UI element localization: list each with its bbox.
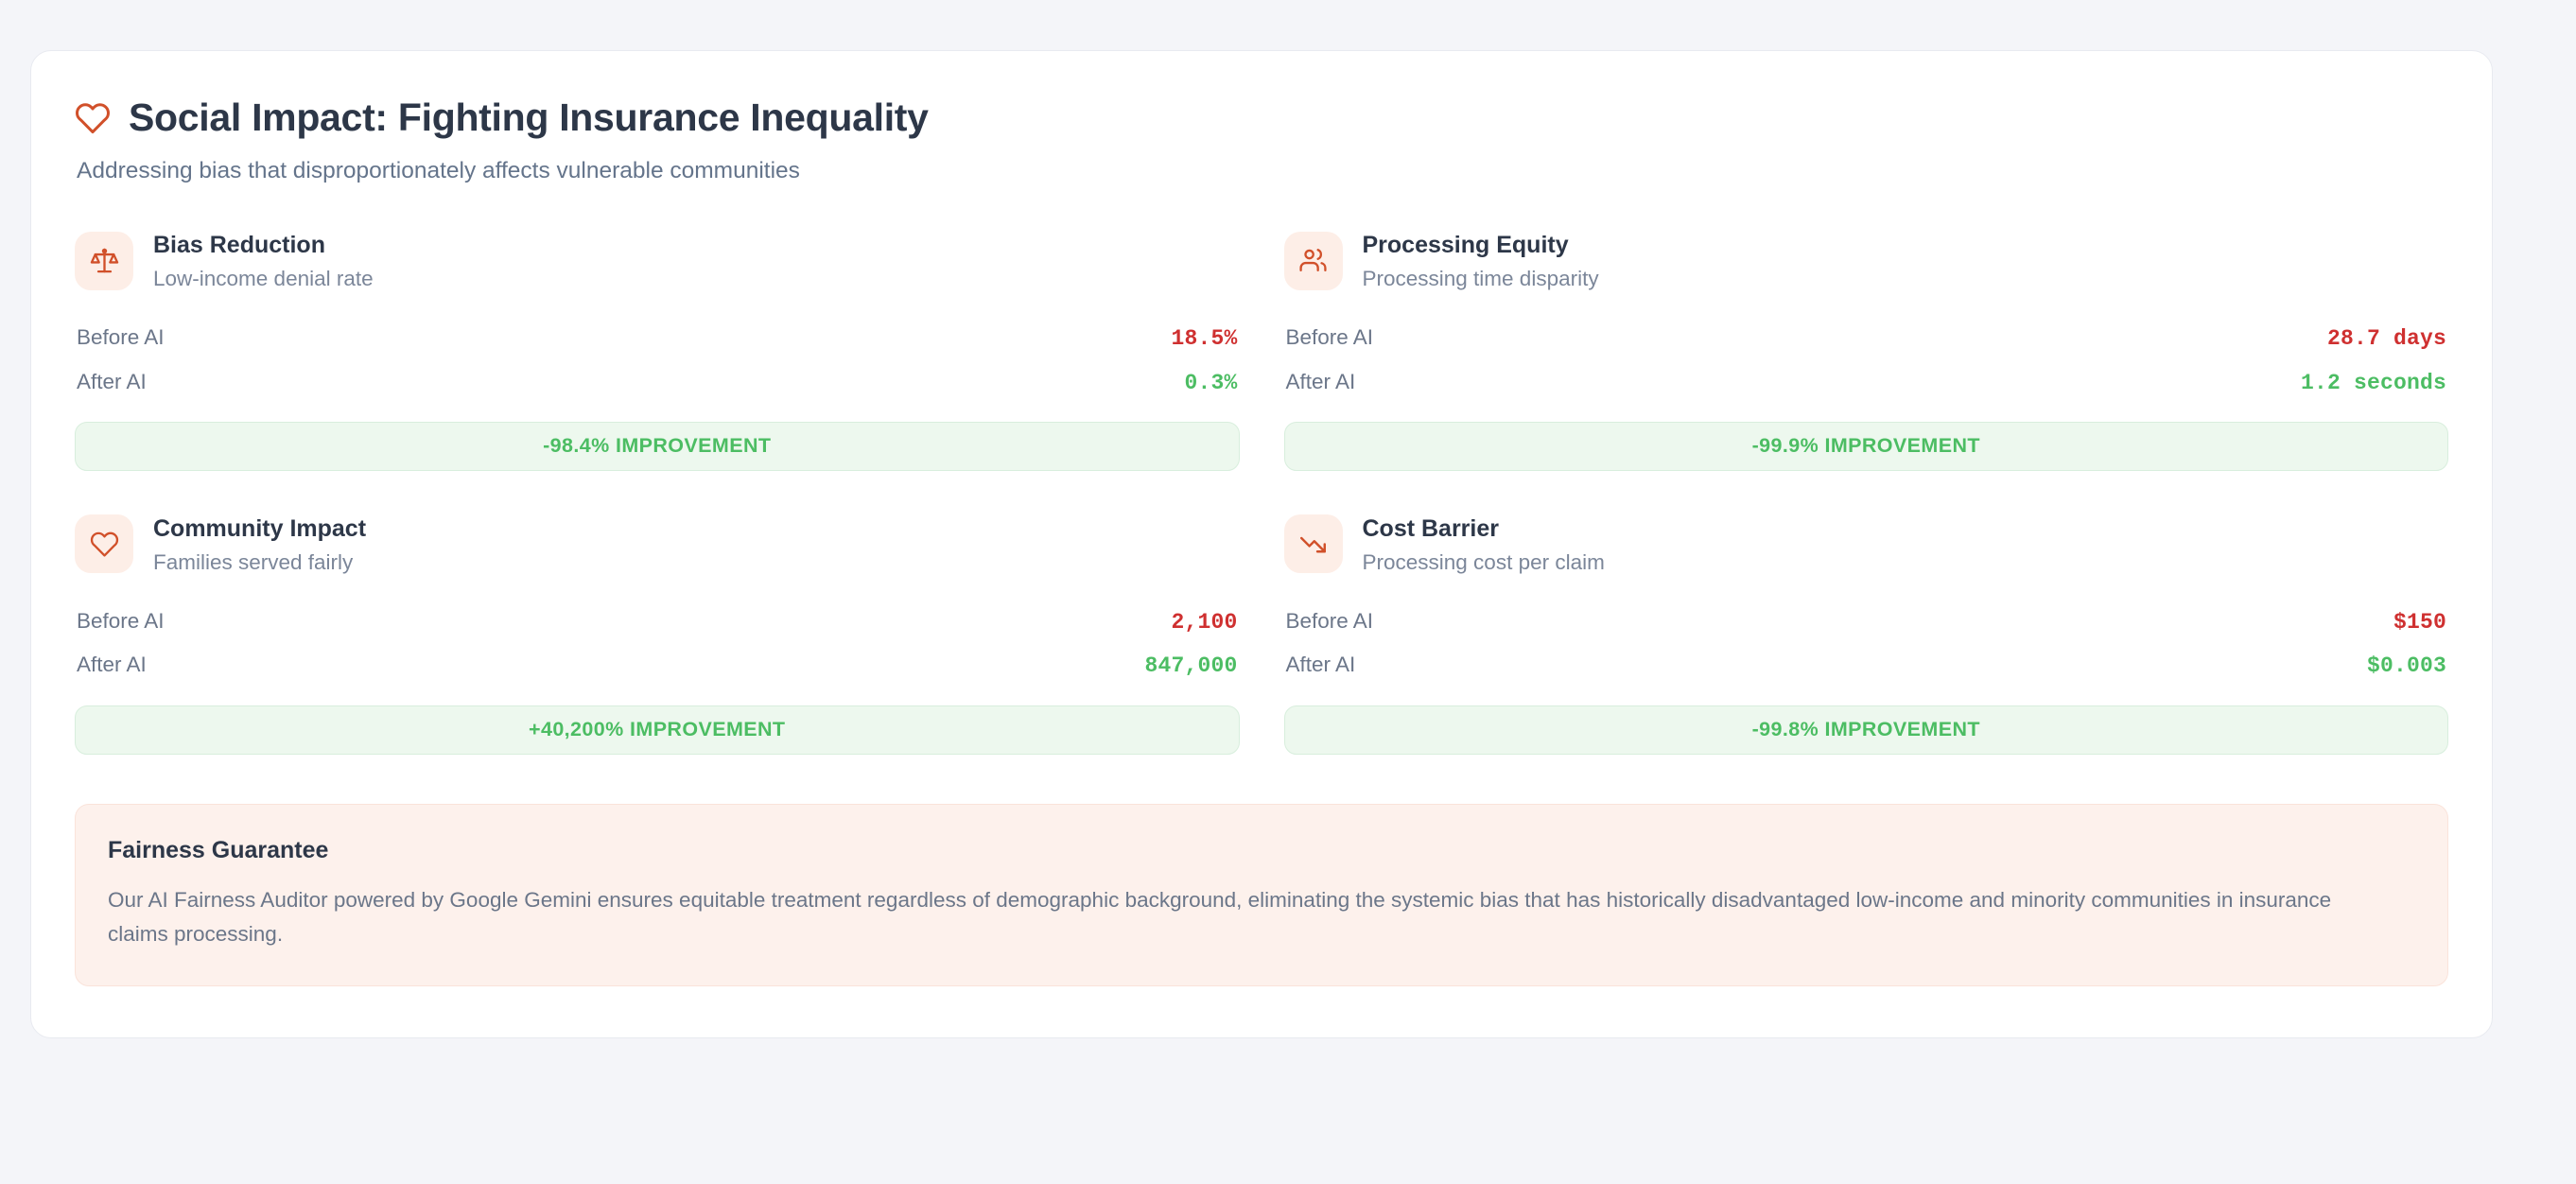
after-value: 847,000 (1144, 651, 1237, 682)
scales-balance-icon (90, 246, 119, 275)
page-background: Social Impact: Fighting Insurance Inequa… (0, 0, 2576, 1184)
metric-grid: Bias Reduction Low-income denial rate Be… (75, 230, 2448, 754)
icon-badge (1284, 232, 1343, 290)
improvement-badge: -99.8% IMPROVEMENT (1284, 705, 2449, 755)
metric-subtitle: Low-income denial rate (153, 266, 374, 291)
metric-header: Bias Reduction Low-income denial rate (75, 230, 1240, 291)
before-label: Before AI (1286, 322, 1374, 354)
improvement-badge: -99.9% IMPROVEMENT (1284, 422, 2449, 471)
metric-titles: Bias Reduction Low-income denial rate (153, 230, 374, 291)
before-value: 2,100 (1171, 607, 1237, 638)
before-label: Before AI (77, 322, 165, 354)
improvement-badge: +40,200% IMPROVEMENT (75, 705, 1240, 755)
metric-card-processing-equity: Processing Equity Processing time dispar… (1284, 230, 2449, 471)
after-label: After AI (1286, 650, 1356, 681)
metric-title: Bias Reduction (153, 231, 374, 259)
metric-subtitle: Families served fairly (153, 549, 366, 575)
metric-rows: Before AI 2,100 After AI 847,000 (75, 601, 1240, 688)
metric-rows: Before AI $150 After AI $0.003 (1284, 601, 2449, 688)
panel-subtitle: Addressing bias that disproportionately … (77, 155, 2448, 186)
after-value: $0.003 (2367, 651, 2446, 682)
before-value: $150 (2393, 607, 2446, 638)
users-icon (1298, 246, 1328, 275)
metric-title: Processing Equity (1363, 231, 1599, 259)
fairness-guarantee-panel: Fairness Guarantee Our AI Fairness Audit… (75, 804, 2448, 987)
metric-rows: Before AI 18.5% After AI 0.3% (75, 317, 1240, 405)
page-title: Social Impact: Fighting Insurance Inequa… (129, 96, 929, 139)
after-label: After AI (1286, 367, 1356, 398)
fairness-guarantee-title: Fairness Guarantee (108, 836, 2415, 864)
metric-titles: Cost Barrier Processing cost per claim (1363, 514, 1605, 575)
metric-header: Processing Equity Processing time dispar… (1284, 230, 2449, 291)
metric-header: Cost Barrier Processing cost per claim (1284, 514, 2449, 575)
metric-row-before: Before AI 18.5% (75, 317, 1240, 360)
metric-row-after: After AI 0.3% (75, 361, 1240, 405)
metric-header: Community Impact Families served fairly (75, 514, 1240, 575)
metric-title: Cost Barrier (1363, 514, 1605, 543)
metric-card-cost-barrier: Cost Barrier Processing cost per claim B… (1284, 514, 2449, 755)
after-value: 0.3% (1184, 368, 1237, 399)
heart-icon (75, 100, 111, 136)
metric-card-community-impact: Community Impact Families served fairly … (75, 514, 1240, 755)
before-label: Before AI (77, 606, 165, 637)
social-impact-panel: Social Impact: Fighting Insurance Inequa… (30, 50, 2493, 1038)
before-value: 18.5% (1171, 323, 1237, 355)
metric-row-before: Before AI $150 (1284, 601, 2449, 644)
metric-title: Community Impact (153, 514, 366, 543)
heart-icon (90, 530, 119, 559)
metric-titles: Processing Equity Processing time dispar… (1363, 230, 1599, 291)
icon-badge (75, 232, 133, 290)
metric-row-after: After AI 847,000 (75, 644, 1240, 688)
after-label: After AI (77, 650, 147, 681)
improvement-badge: -98.4% IMPROVEMENT (75, 422, 1240, 471)
icon-badge (1284, 514, 1343, 573)
metric-subtitle: Processing cost per claim (1363, 549, 1605, 575)
after-label: After AI (77, 367, 147, 398)
before-value: 28.7 days (2327, 323, 2446, 355)
fairness-guarantee-body: Our AI Fairness Auditor powered by Googl… (108, 883, 2396, 952)
metric-row-before: Before AI 28.7 days (1284, 317, 2449, 360)
after-value: 1.2 seconds (2301, 368, 2446, 399)
metric-titles: Community Impact Families served fairly (153, 514, 366, 575)
trending-down-icon (1298, 530, 1328, 559)
icon-badge (75, 514, 133, 573)
metric-row-before: Before AI 2,100 (75, 601, 1240, 644)
metric-row-after: After AI 1.2 seconds (1284, 361, 2449, 405)
before-label: Before AI (1286, 606, 1374, 637)
metric-subtitle: Processing time disparity (1363, 266, 1599, 291)
metric-card-bias-reduction: Bias Reduction Low-income denial rate Be… (75, 230, 1240, 471)
metric-row-after: After AI $0.003 (1284, 644, 2449, 688)
metric-rows: Before AI 28.7 days After AI 1.2 seconds (1284, 317, 2449, 405)
panel-header: Social Impact: Fighting Insurance Inequa… (75, 96, 2448, 139)
